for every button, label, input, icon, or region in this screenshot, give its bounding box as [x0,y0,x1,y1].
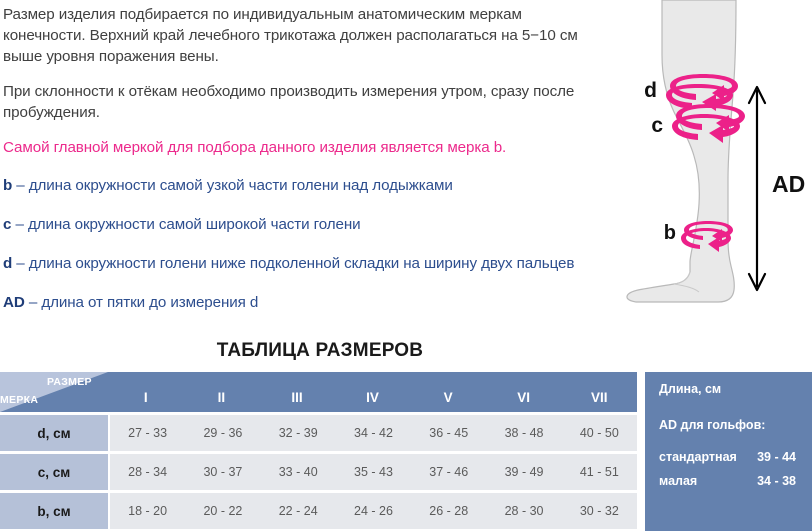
page-root: Размер изделия подбирается по индивидуал… [0,0,812,531]
cell-c-5: 37 - 46 [411,454,486,490]
cell-b-2: 20 - 22 [185,493,260,529]
measurement-desc-d: – длина окружности голени ниже подколенн… [12,255,574,272]
length-value-small: 34 - 38 [757,474,796,488]
length-panel-subtitle: AD для гольфов: [659,418,800,432]
cell-d-6: 38 - 48 [486,415,561,451]
cell-c-4: 35 - 43 [336,454,411,490]
row-cells-c: 28 - 34 30 - 37 33 - 40 35 - 43 37 - 46 … [110,454,637,490]
label-ad: AD [772,171,805,197]
cell-d-5: 36 - 45 [411,415,486,451]
intro-paragraph-1: Размер изделия подбирается по индивидуал… [3,4,603,67]
cell-d-1: 27 - 33 [110,415,185,451]
corner-row-header-label: МЕРКА [0,394,38,406]
measurement-desc-c: – длина окружности самой широкой части г… [11,216,360,233]
cell-d-4: 34 - 42 [336,415,411,451]
cell-b-3: 22 - 24 [261,493,336,529]
cell-b-6: 28 - 30 [486,493,561,529]
ad-dimension-arrow [749,87,765,290]
length-row-small: малая 34 - 38 [659,474,800,488]
measurement-key-b: b [3,177,12,194]
row-cells-b: 18 - 20 20 - 22 22 - 24 24 - 26 26 - 28 … [110,493,637,529]
length-panel-title: Длина, см [659,382,800,396]
column-header-2: II [184,372,260,412]
cell-c-6: 39 - 49 [486,454,561,490]
length-label-standard: стандартная [659,450,737,464]
cell-b-4: 24 - 26 [336,493,411,529]
measurement-key-ad: AD [3,294,25,311]
row-label-d: d, см [0,415,108,451]
cell-d-2: 29 - 36 [185,415,260,451]
highlight-note: Самой главной меркой для подбора данного… [3,137,603,158]
cell-c-7: 41 - 51 [562,454,637,490]
cell-d-7: 40 - 50 [562,415,637,451]
column-header-3: III [259,372,335,412]
table-title: ТАБЛИЦА РАЗМЕРОВ [0,340,640,362]
cell-c-1: 28 - 34 [110,454,185,490]
cell-c-2: 30 - 37 [185,454,260,490]
cell-d-3: 32 - 39 [261,415,336,451]
measurement-item-d: d – длина окружности голени ниже подколе… [3,253,603,274]
label-c: c [651,114,663,137]
corner-col-header-label: РАЗМЕР [47,376,92,388]
leg-diagram: d c b AD [600,0,812,340]
cell-b-1: 18 - 20 [110,493,185,529]
length-row-standard: стандартная 39 - 44 [659,450,800,464]
table-column-headers: I II III IV V VI VII [108,372,637,412]
length-info-panel: Длина, см AD для гольфов: стандартная 39… [645,372,812,531]
table-row: b, см 18 - 20 20 - 22 22 - 24 24 - 26 26… [0,493,637,529]
measurement-item-ad: AD – длина от пятки до измерения d [3,292,603,313]
length-value-standard: 39 - 44 [757,450,796,464]
cell-b-7: 30 - 32 [562,493,637,529]
column-header-4: IV [335,372,411,412]
column-header-6: VI [486,372,562,412]
cell-c-3: 33 - 40 [261,454,336,490]
size-table: МЕРКА РАЗМЕР I II III IV V VI VII d, см … [0,372,637,529]
table-row: c, см 28 - 34 30 - 37 33 - 40 35 - 43 37… [0,454,637,490]
table-header-row: МЕРКА РАЗМЕР I II III IV V VI VII [0,372,637,412]
row-cells-d: 27 - 33 29 - 36 32 - 39 34 - 42 36 - 45 … [110,415,637,451]
table-row: d, см 27 - 33 29 - 36 32 - 39 34 - 42 36… [0,415,637,451]
measurement-desc-b: – длина окружности самой узкой части гол… [12,177,453,194]
column-header-1: I [108,372,184,412]
measurement-key-d: d [3,255,12,272]
measurement-desc-ad: – длина от пятки до измерения d [25,294,259,311]
cell-b-5: 26 - 28 [411,493,486,529]
instructions-text-column: Размер изделия подбирается по индивидуал… [3,4,603,331]
label-d: d [644,79,657,102]
measurement-item-c: c – длина окружности самой широкой части… [3,214,603,235]
column-header-5: V [410,372,486,412]
intro-paragraph-2: При склонности к отёкам необходимо произ… [3,81,603,123]
label-b: b [664,222,676,244]
leg-shape [627,0,736,302]
column-header-7: VII [561,372,637,412]
row-label-b: b, см [0,493,108,529]
leg-silhouette [627,0,736,302]
length-label-small: малая [659,474,697,488]
measurement-item-b: b – длина окружности самой узкой части г… [3,175,603,196]
row-label-c: c, см [0,454,108,490]
